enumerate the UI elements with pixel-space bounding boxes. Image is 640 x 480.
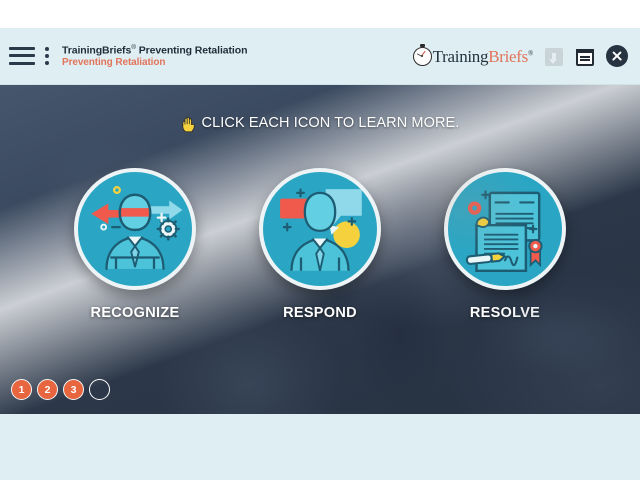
kebab-dot xyxy=(45,61,49,65)
instruction-text-row: CLICK EACH ICON TO LEARN MORE. xyxy=(0,115,640,131)
icon-label-recognize: RECOGNIZE xyxy=(68,305,203,321)
person-arrows-gear-icon[interactable] xyxy=(74,168,196,290)
download-arrow xyxy=(552,53,555,60)
kebab-dot xyxy=(45,47,49,51)
course-title-rest: Preventing Retaliation xyxy=(136,44,247,56)
pagination-dot-4[interactable] xyxy=(89,379,110,400)
course-title: TrainingBriefs® Preventing Retaliation xyxy=(62,44,247,57)
notes-button[interactable] xyxy=(575,46,595,67)
hamburger-line xyxy=(9,54,35,57)
stopwatch-icon xyxy=(413,47,432,66)
brand-wordmark: TrainingBriefs® xyxy=(433,48,533,65)
course-player: TrainingBriefs® Preventing Retaliation P… xyxy=(0,0,640,480)
brand-training: Training xyxy=(433,47,489,66)
lesson-title: Preventing Retaliation xyxy=(62,57,247,69)
hamburger-line xyxy=(9,62,35,65)
header-right-group: TrainingBriefs® xyxy=(413,45,640,67)
kebab-dot xyxy=(45,54,49,58)
brand-registered: ® xyxy=(528,49,533,57)
slide-stage: CLICK EACH ICON TO LEARN MORE. xyxy=(0,85,640,414)
more-options-icon[interactable] xyxy=(44,47,49,65)
close-button[interactable] xyxy=(606,45,628,67)
icon-item-respond: RESPOND xyxy=(253,168,388,321)
trainingbriefs-logo: TrainingBriefs® xyxy=(413,47,533,66)
calendar-icon xyxy=(576,49,594,66)
pagination-dot-2[interactable]: 2 xyxy=(37,379,58,400)
icon-item-resolve: RESOLVE xyxy=(438,168,573,321)
icon-label-respond: RESPOND xyxy=(253,305,388,321)
download-icon xyxy=(545,48,563,66)
hamburger-icon[interactable] xyxy=(9,47,35,65)
top-white-strip xyxy=(0,0,640,28)
brand-briefs: Briefs xyxy=(488,47,528,66)
hamburger-line xyxy=(9,47,35,50)
course-title-brand: TrainingBriefs xyxy=(62,44,131,56)
pagination-dot-3[interactable]: 3 xyxy=(63,379,84,400)
calendar-line xyxy=(580,56,590,58)
pointing-hand-icon xyxy=(181,116,196,132)
pagination: 1 2 3 xyxy=(11,379,110,400)
download-button[interactable] xyxy=(544,46,564,67)
calendar-line xyxy=(580,59,590,61)
player-header: TrainingBriefs® Preventing Retaliation P… xyxy=(0,28,640,85)
header-titles: TrainingBriefs® Preventing Retaliation P… xyxy=(62,44,247,69)
icon-row: RECOGNIZE xyxy=(0,168,640,321)
header-left-group: TrainingBriefs® Preventing Retaliation P… xyxy=(0,44,247,69)
instruction-text: CLICK EACH ICON TO LEARN MORE. xyxy=(202,115,460,131)
player-footer xyxy=(0,414,640,480)
pagination-dot-1[interactable]: 1 xyxy=(11,379,32,400)
signed-documents-icon[interactable] xyxy=(444,168,566,290)
icon-label-resolve: RESOLVE xyxy=(438,305,573,321)
icon-item-recognize: RECOGNIZE xyxy=(68,168,203,321)
person-speech-bubbles-icon[interactable] xyxy=(259,168,381,290)
